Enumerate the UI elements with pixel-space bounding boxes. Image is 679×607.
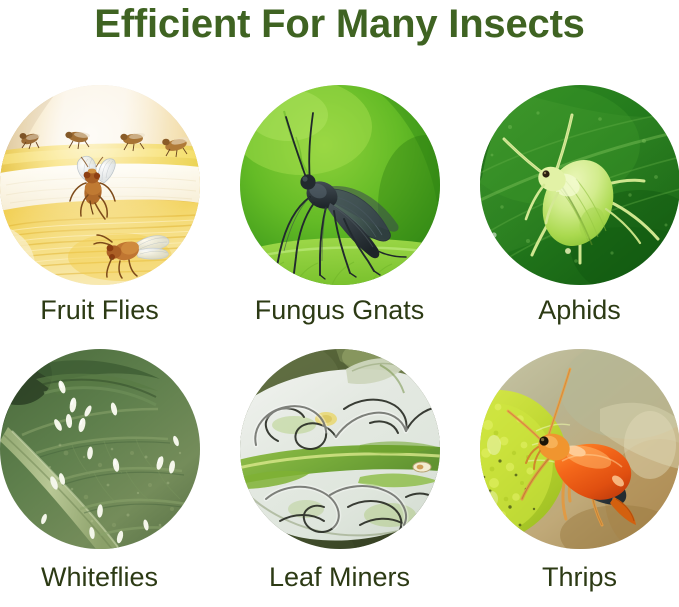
insect-cell-thrips[interactable]: Thrips — [474, 349, 679, 593]
insect-label: Whiteflies — [41, 563, 158, 593]
insect-cell-fruit-flies[interactable]: Fruit Flies — [0, 85, 205, 326]
insect-label: Thrips — [542, 563, 617, 593]
insect-cell-leaf-miners[interactable]: Leaf Miners — [234, 349, 445, 593]
insect-cell-aphids[interactable]: Aphids — [474, 85, 679, 326]
insect-cell-fungus-gnats[interactable]: Fungus Gnats — [234, 85, 445, 326]
insect-label: Fruit Flies — [40, 296, 159, 326]
fruit-flies-photo — [0, 85, 200, 285]
thrips-photo — [480, 349, 679, 549]
insect-label: Aphids — [538, 296, 621, 326]
insect-label: Fungus Gnats — [255, 296, 425, 326]
leaf-miners-photo — [240, 349, 440, 549]
insect-label: Leaf Miners — [269, 563, 410, 593]
insect-feature-panel: Efficient For Many Insects — [0, 0, 679, 607]
page-title: Efficient For Many Insects — [0, 2, 679, 47]
fungus-gnats-photo — [240, 85, 440, 285]
insect-grid: Fruit Flies — [0, 85, 679, 592]
insect-row-2: Whiteflies — [0, 349, 679, 593]
aphids-photo — [480, 85, 679, 285]
whiteflies-photo — [0, 349, 200, 549]
insect-row-1: Fruit Flies — [0, 85, 679, 326]
insect-cell-whiteflies[interactable]: Whiteflies — [0, 349, 205, 593]
